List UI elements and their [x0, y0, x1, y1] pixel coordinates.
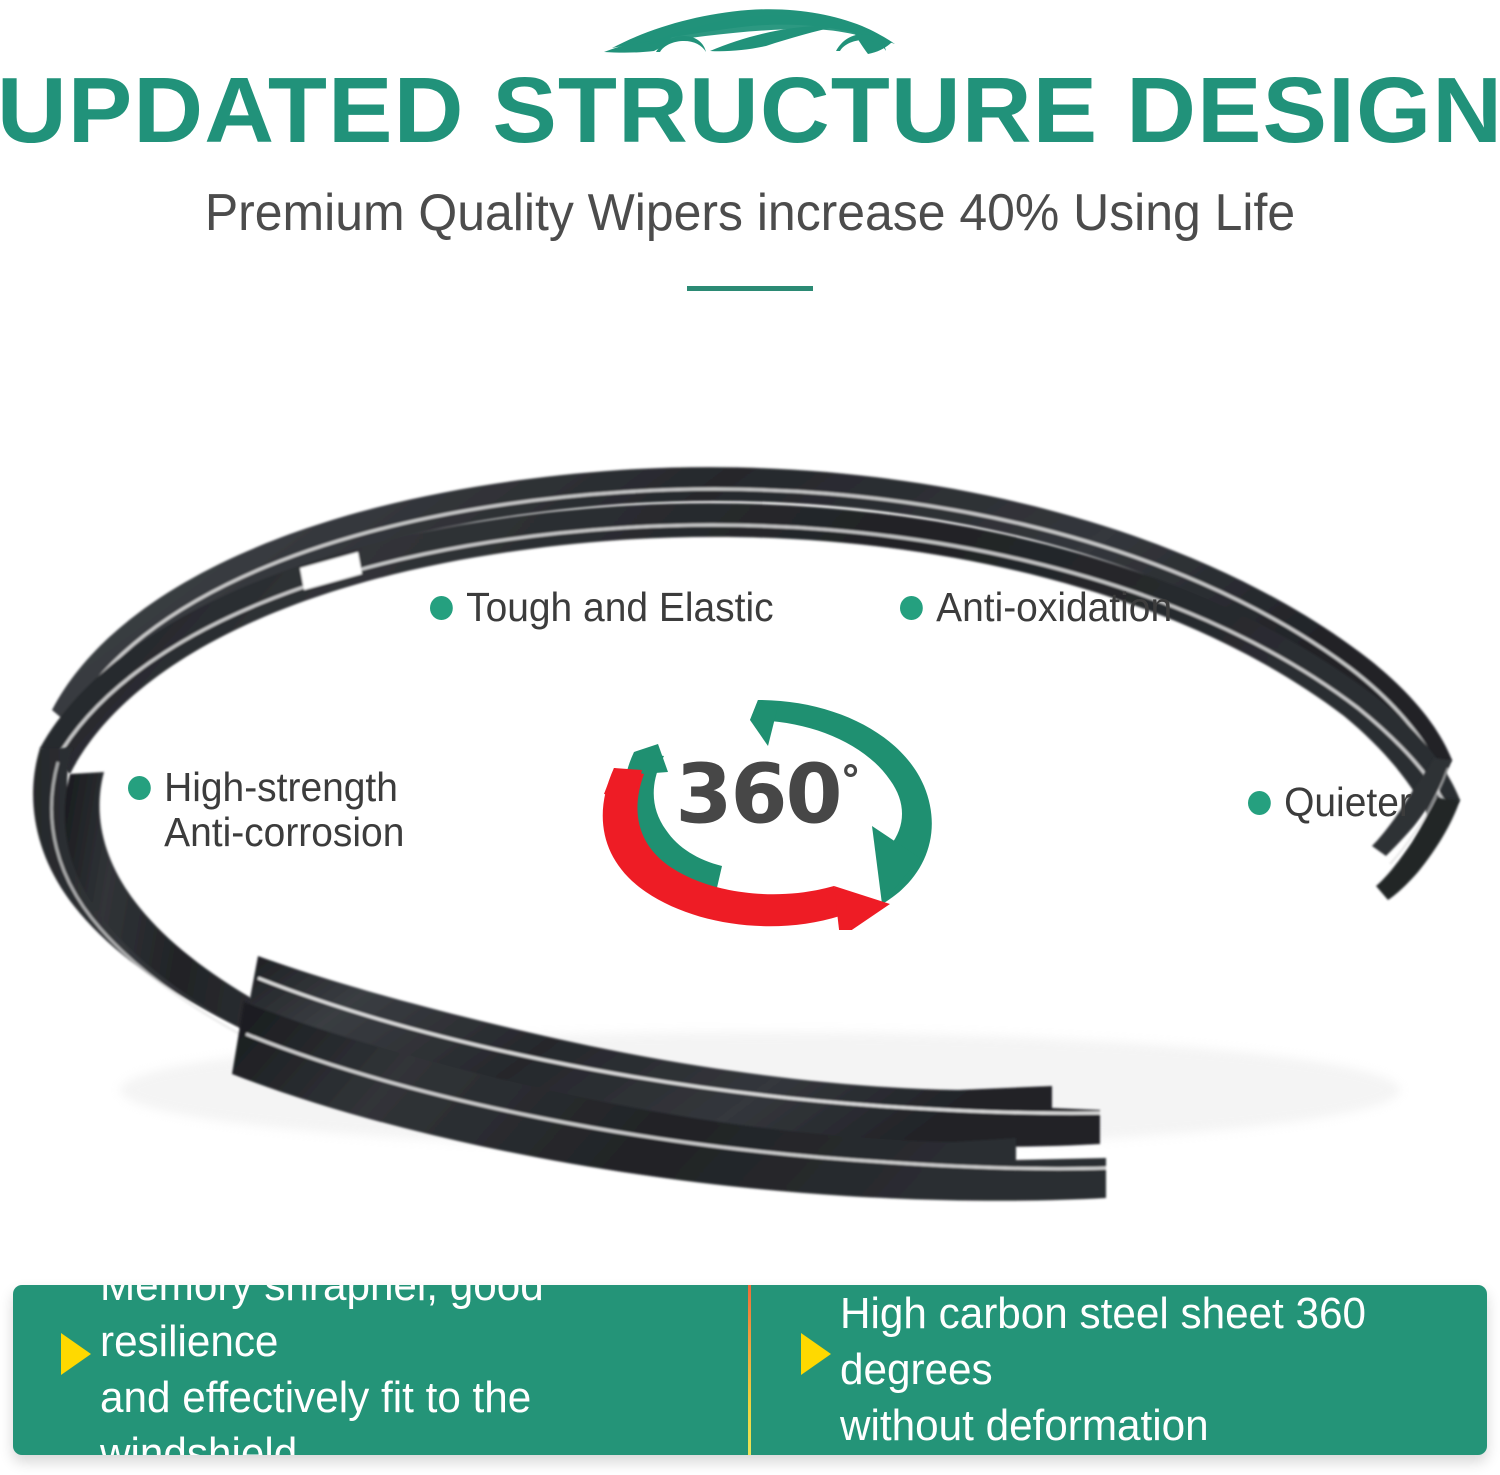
feature-callout-high-strength-anti-corrosion: High-strength Anti-corrosion — [128, 765, 404, 855]
feature-banner: Memory shrapnel, good resilience and eff… — [13, 1285, 1487, 1455]
bullet-dot-icon — [128, 776, 151, 800]
bullet-dot-icon — [900, 596, 923, 620]
feature-callout-tough-and-elastic: Tough and Elastic — [430, 585, 774, 630]
feature-label: Tough and Elastic — [466, 585, 773, 630]
banner-item-high-carbon-steel: High carbon steel sheet 360 degrees with… — [751, 1285, 1488, 1455]
360-degree-badge: 360° — [572, 690, 964, 930]
degree-symbol: ° — [841, 758, 861, 804]
triangle-right-icon — [801, 1333, 831, 1375]
badge-number: 360 — [675, 747, 840, 842]
product-infographic: UPDATED STRUCTURE DESIGN Premium Quality… — [0, 0, 1500, 1475]
360-degree-value: 360° — [572, 740, 964, 836]
feature-callout-quieter: Quieter — [1248, 780, 1412, 825]
page-title: UPDATED STRUCTURE DESIGN — [0, 62, 1500, 158]
banner-item-text: High carbon steel sheet 360 degrees with… — [840, 1286, 1462, 1454]
bullet-dot-icon — [430, 596, 453, 620]
car-silhouette-icon — [590, 4, 910, 66]
title-divider — [687, 286, 813, 291]
banner-item-text: Memory shrapnel, good resilience and eff… — [100, 1285, 722, 1455]
page-subtitle: Premium Quality Wipers increase 40% Usin… — [30, 182, 1470, 244]
bullet-dot-icon — [1248, 791, 1271, 815]
feature-callout-anti-oxidation: Anti-oxidation — [900, 585, 1172, 630]
feature-label: Quieter — [1284, 780, 1412, 825]
feature-label: High-strength Anti-corrosion — [164, 765, 404, 855]
banner-item-memory-shrapnel: Memory shrapnel, good resilience and eff… — [13, 1285, 748, 1455]
triangle-right-icon — [61, 1333, 91, 1375]
feature-label: Anti-oxidation — [936, 585, 1172, 630]
